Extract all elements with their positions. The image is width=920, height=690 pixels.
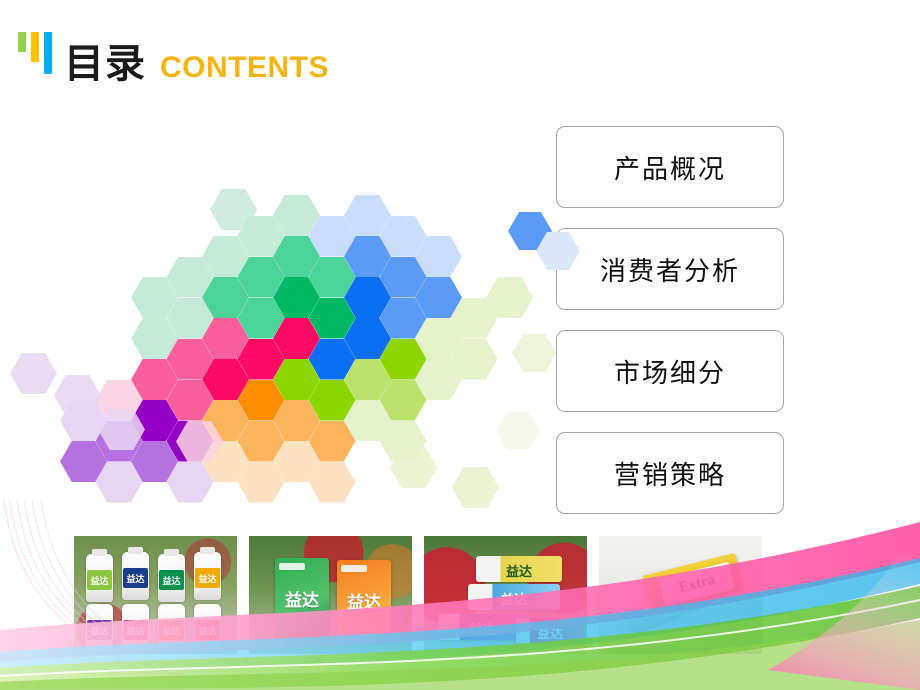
menu-item-consumer-analysis[interactable]: 消费者分析 <box>556 228 784 310</box>
logo-bar-green-icon <box>18 32 26 52</box>
contents-menu: 产品概况 消费者分析 市场细分 营销策略 <box>556 126 786 514</box>
photo-gum-bottles: 益达 益达 益达 益达 益达 益达 益达 益达 <box>72 534 239 656</box>
logo-bar-yellow-icon <box>31 32 39 62</box>
extra-brand-text: Extra <box>677 571 717 596</box>
accent-hexagon-palegreen-icon <box>512 334 556 372</box>
photo-gum-packs: 益达 益达 <box>247 534 414 656</box>
photo-extra-packs: Extra <box>597 534 764 656</box>
menu-item-product-overview[interactable]: 产品概况 <box>556 126 784 208</box>
right-glow-decoration <box>740 520 920 690</box>
menu-item-label: 市场细分 <box>614 353 726 390</box>
page-title: 目录 CONTENTS <box>18 24 329 82</box>
logo-bar-blue-icon <box>44 32 52 74</box>
menu-item-label: 消费者分析 <box>600 251 740 288</box>
hexagon-cluster <box>60 195 480 525</box>
menu-item-label: 营销策略 <box>614 455 726 492</box>
title-english: CONTENTS <box>160 53 329 83</box>
menu-item-market-segmentation[interactable]: 市场细分 <box>556 330 784 412</box>
menu-item-label: 产品概况 <box>614 149 726 186</box>
hexagon-tile <box>452 467 499 508</box>
title-chinese: 目录 <box>64 44 146 84</box>
accent-hexagon-palegreen2-icon <box>496 412 540 450</box>
logo-bars <box>18 32 58 82</box>
slide-root: 目录 CONTENTS 产品概况 消费者分析 市场细分 营销策略 益达 益达 益… <box>0 0 920 690</box>
photo-strip: 益达 益达 益达 益达 益达 益达 益达 益达 益达 益达 益达 益达 <box>72 534 764 656</box>
hexagon-tile <box>10 353 57 394</box>
menu-item-marketing-strategy[interactable]: 营销策略 <box>556 432 784 514</box>
photo-gum-boxes: 益达 益达 益达 益达 <box>422 534 589 656</box>
